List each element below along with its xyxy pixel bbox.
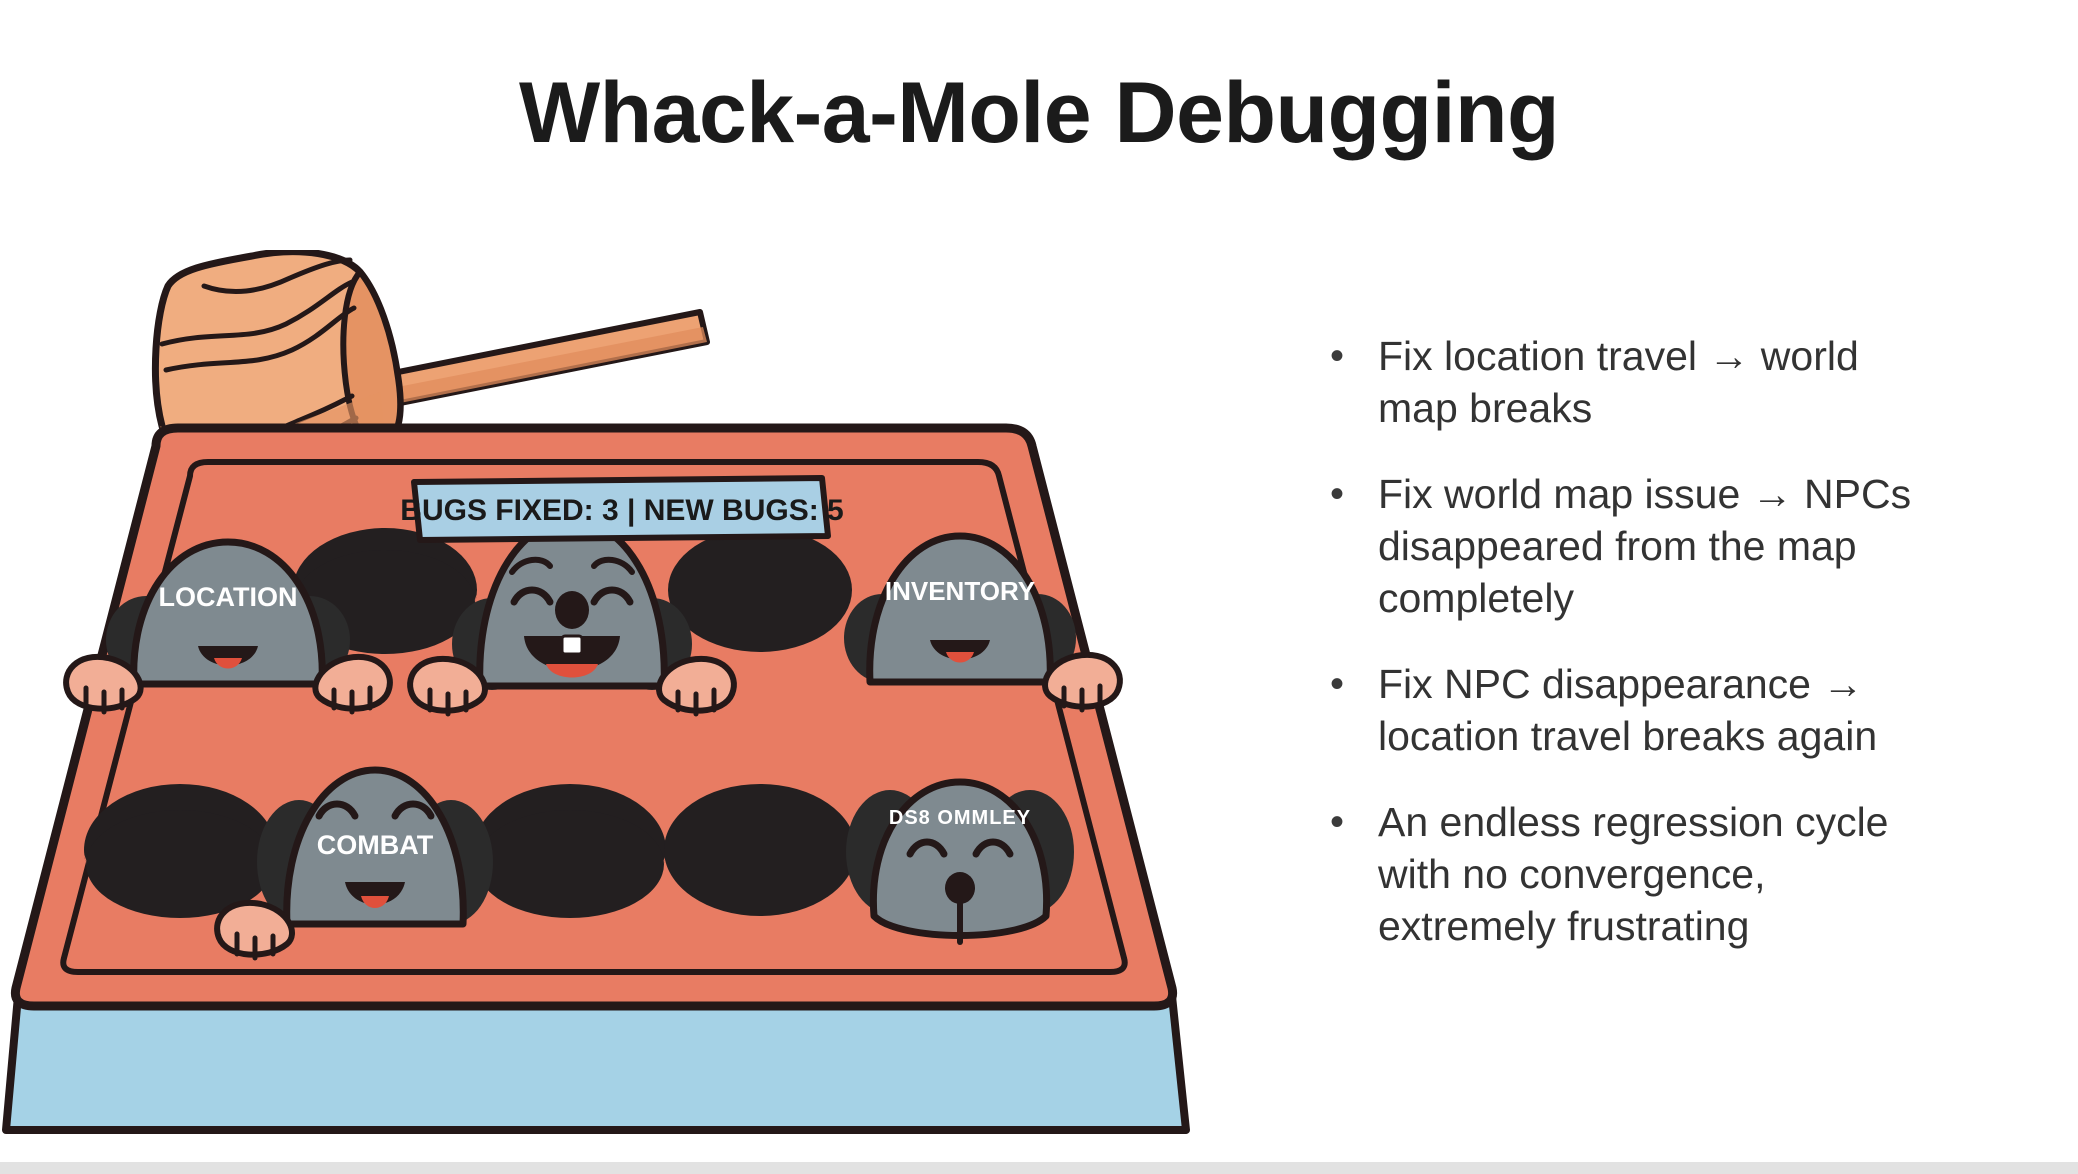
mole-paw	[315, 657, 390, 712]
mole-label: INVENTORY	[885, 576, 1035, 606]
mole-paw	[1045, 655, 1120, 710]
bullet-list: • Fix location travel → world map breaks…	[1322, 330, 1942, 952]
mole-hole[interactable]	[474, 784, 666, 918]
mole-label: DS8 OMMLEY	[889, 807, 1031, 829]
list-item: • Fix location travel → world map breaks	[1322, 330, 1942, 434]
cabinet-base	[6, 996, 1186, 1130]
mole-paw	[410, 659, 485, 714]
mole-hole[interactable]	[664, 784, 856, 916]
scoreboard-text: BUGS FIXED: 3 | NEW BUGS: 5	[400, 494, 843, 527]
bullet-marker-icon: •	[1322, 330, 1378, 382]
bullet-text: An endless regression cycle with no conv…	[1378, 796, 1942, 952]
list-item: • An endless regression cycle with no co…	[1322, 796, 1942, 952]
list-item: • Fix NPC disappearance → location trave…	[1322, 658, 1942, 762]
bullet-marker-icon: •	[1322, 658, 1378, 710]
mole-label: LOCATION	[159, 582, 298, 612]
bullet-text: Fix world map issue → NPCs disappeared f…	[1378, 468, 1942, 624]
mole-paw	[659, 659, 734, 714]
mole-paw	[217, 903, 292, 958]
whack-a-mole-illustration: LOCATION	[0, 250, 1260, 1150]
bullet-text: Fix location travel → world map breaks	[1378, 330, 1942, 434]
bullet-text: Fix NPC disappearance → location travel …	[1378, 658, 1942, 762]
status-badge: BUGS FIXED: 3 | NEW BUGS: 5	[400, 478, 843, 540]
mole-paw	[66, 657, 141, 712]
mole-label: COMBAT	[317, 830, 434, 860]
mole-hole[interactable]	[84, 784, 276, 918]
mole-ds8-ommley[interactable]: DS8 OMMLEY	[846, 782, 1074, 942]
slide-bottom-divider	[0, 1162, 2078, 1174]
bullet-marker-icon: •	[1322, 468, 1378, 520]
mole-hole[interactable]	[668, 528, 852, 652]
page-title: Whack-a-Mole Debugging	[0, 68, 2078, 158]
list-item: • Fix world map issue → NPCs disappeared…	[1322, 468, 1942, 624]
slide-canvas: Whack-a-Mole Debugging	[0, 0, 2078, 1174]
bullet-marker-icon: •	[1322, 796, 1378, 848]
